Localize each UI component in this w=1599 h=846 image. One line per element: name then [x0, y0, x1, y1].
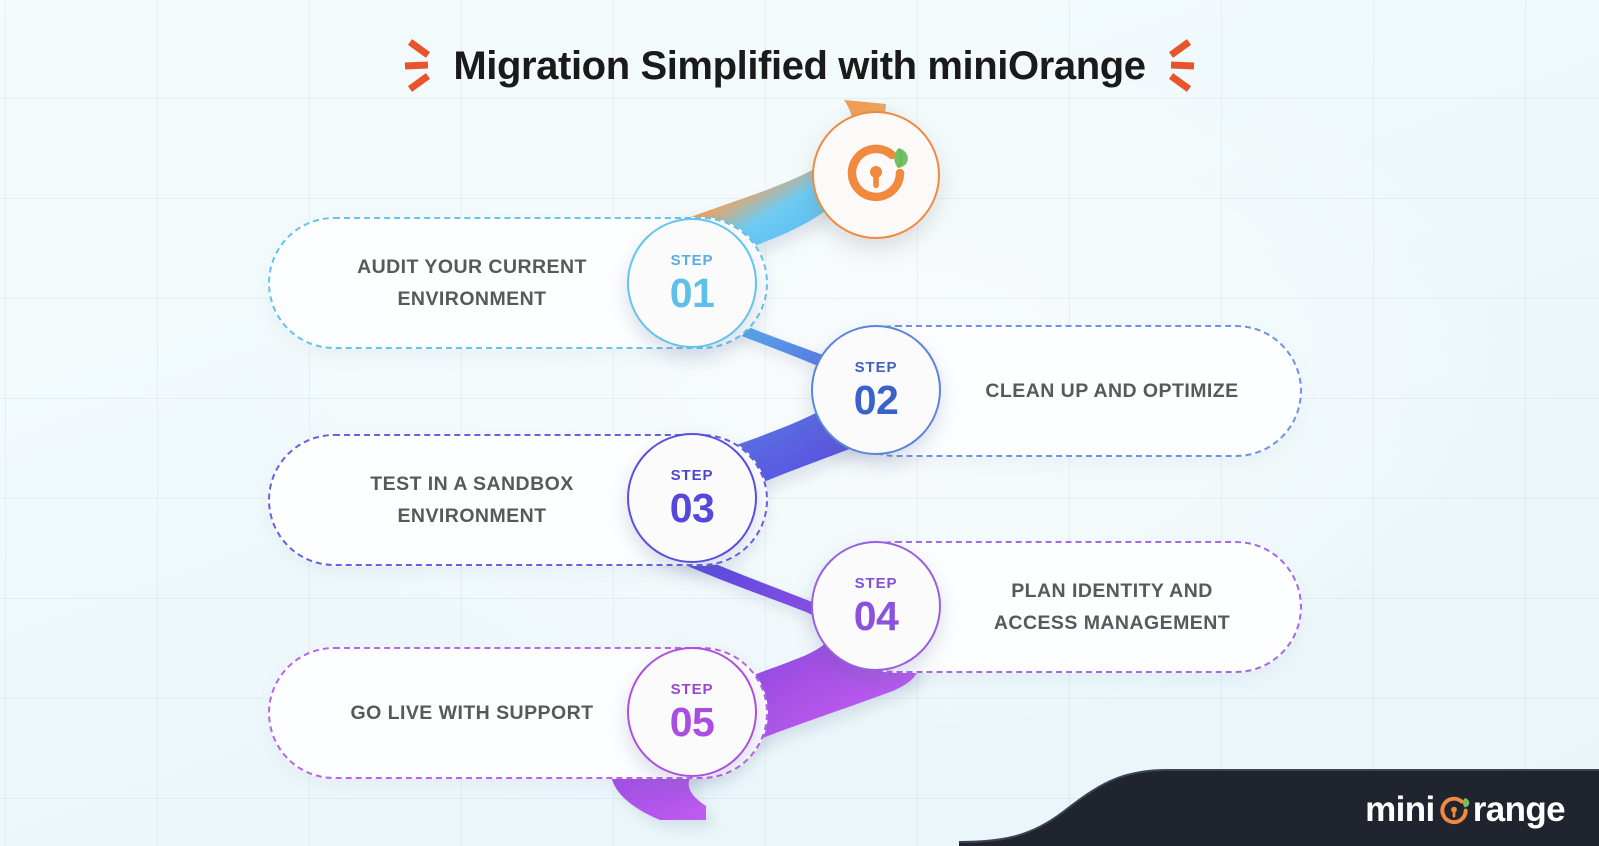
step-circle-04[interactable]: STEP 04 — [811, 541, 941, 671]
step-number-04: 04 — [854, 596, 899, 637]
miniorange-logo-badge — [812, 111, 940, 239]
step-word-03: STEP — [671, 468, 714, 483]
step-label-04: PLAN IDENTITY AND ACCESS MANAGEMENT — [994, 575, 1230, 639]
spark-right-icon — [1164, 38, 1198, 94]
miniorange-logo-icon — [837, 136, 915, 214]
step-number-01: 01 — [670, 273, 715, 314]
footer-brand-suffix: range — [1473, 792, 1565, 827]
step-word-04: STEP — [855, 576, 898, 591]
footer-brand-prefix: mini — [1365, 792, 1435, 827]
infographic-canvas: Migration Simplified with miniOrange — [0, 0, 1599, 846]
step-circle-05[interactable]: STEP 05 — [627, 647, 757, 777]
step-word-01: STEP — [671, 253, 714, 268]
footer-logo: mini range — [1365, 791, 1565, 827]
title-row: Migration Simplified with miniOrange — [0, 38, 1599, 94]
step-circle-03[interactable]: STEP 03 — [627, 433, 757, 563]
ribbon-connector — [0, 0, 1599, 846]
step-word-05: STEP — [671, 682, 714, 697]
step-circle-01[interactable]: STEP 01 — [627, 218, 757, 348]
page-title: Migration Simplified with miniOrange — [453, 44, 1145, 89]
step-label-05: GO LIVE WITH SUPPORT — [350, 697, 593, 729]
step-circle-02[interactable]: STEP 02 — [811, 325, 941, 455]
step-word-02: STEP — [855, 360, 898, 375]
step-number-03: 03 — [670, 488, 715, 529]
step-label-02: CLEAN UP AND OPTIMIZE — [985, 375, 1238, 407]
step-label-01: AUDIT YOUR CURRENT ENVIRONMENT — [357, 251, 587, 315]
step-number-02: 02 — [854, 380, 899, 421]
step-label-03: TEST IN A SANDBOX ENVIRONMENT — [370, 468, 573, 532]
spark-left-icon — [401, 38, 435, 94]
step-number-05: 05 — [670, 702, 715, 743]
miniorange-mark-icon — [1436, 793, 1472, 829]
